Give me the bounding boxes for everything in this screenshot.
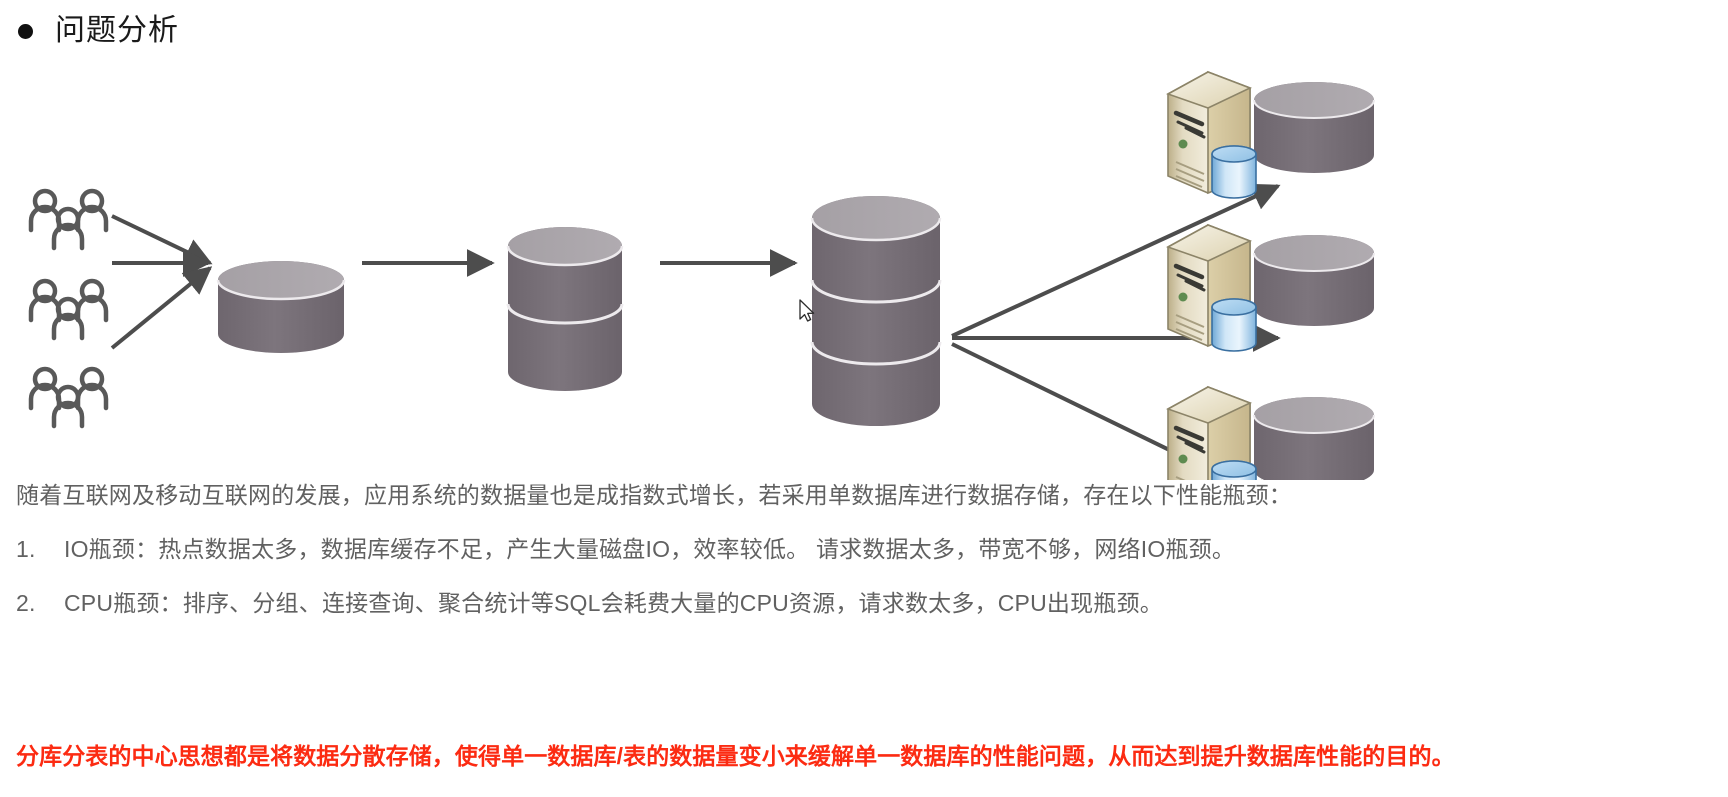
database-cylinder-icon (1254, 82, 1374, 173)
server-node-group (1168, 225, 1374, 351)
list-item: 1. IO瓶颈：热点数据太多，数据库缓存不足，产生大量磁盘IO，效率较低。 请求… (16, 538, 1716, 561)
users-group-icon (31, 369, 106, 426)
page-heading: 问题分析 (18, 16, 179, 46)
architecture-diagram (0, 48, 1728, 480)
list-item-number: 2. (16, 592, 64, 615)
database-cylinder-icon (218, 261, 344, 353)
highlighted-conclusion: 分库分表的中心思想都是将数据分散存储，使得单一数据库/表的数据量变小来缓解单一数… (16, 745, 1455, 768)
filled-circle-bullet-icon (18, 24, 33, 39)
mouse-pointer-icon (800, 300, 814, 321)
blue-database-icon (1212, 146, 1256, 198)
users-group-icon (31, 281, 106, 338)
list-item-text: CPU瓶颈：排序、分组、连接查询、聚合统计等SQL会耗费大量的CPU资源，请求数… (64, 592, 1163, 615)
server-node-group (1168, 387, 1374, 480)
diagram-canvas (0, 48, 1728, 480)
database-cylinder-icon (812, 196, 940, 426)
lead-paragraph: 随着互联网及移动互联网的发展，应用系统的数据量也是成指数式增长，若采用单数据库进… (16, 484, 1716, 507)
list-item-number: 1. (16, 538, 64, 561)
database-cylinder-icon (508, 227, 622, 391)
database-cylinder-icon (1254, 235, 1374, 326)
blue-database-icon (1212, 461, 1256, 480)
page-title: 问题分析 (55, 16, 179, 46)
list-item-text: IO瓶颈：热点数据太多，数据库缓存不足，产生大量磁盘IO，效率较低。 请求数据太… (64, 538, 1235, 561)
arrow-user1-to-db (112, 216, 210, 263)
list-item: 2. CPU瓶颈：排序、分组、连接查询、聚合统计等SQL会耗费大量的CPU资源，… (16, 592, 1716, 615)
arrow-user3-to-db (112, 268, 210, 348)
blue-database-icon (1212, 299, 1256, 351)
users-group-icon (31, 191, 106, 248)
body-text-block: 随着互联网及移动互联网的发展，应用系统的数据量也是成指数式增长，若采用单数据库进… (16, 484, 1716, 646)
server-node-group (1168, 72, 1374, 198)
database-cylinder-icon (1254, 397, 1374, 480)
